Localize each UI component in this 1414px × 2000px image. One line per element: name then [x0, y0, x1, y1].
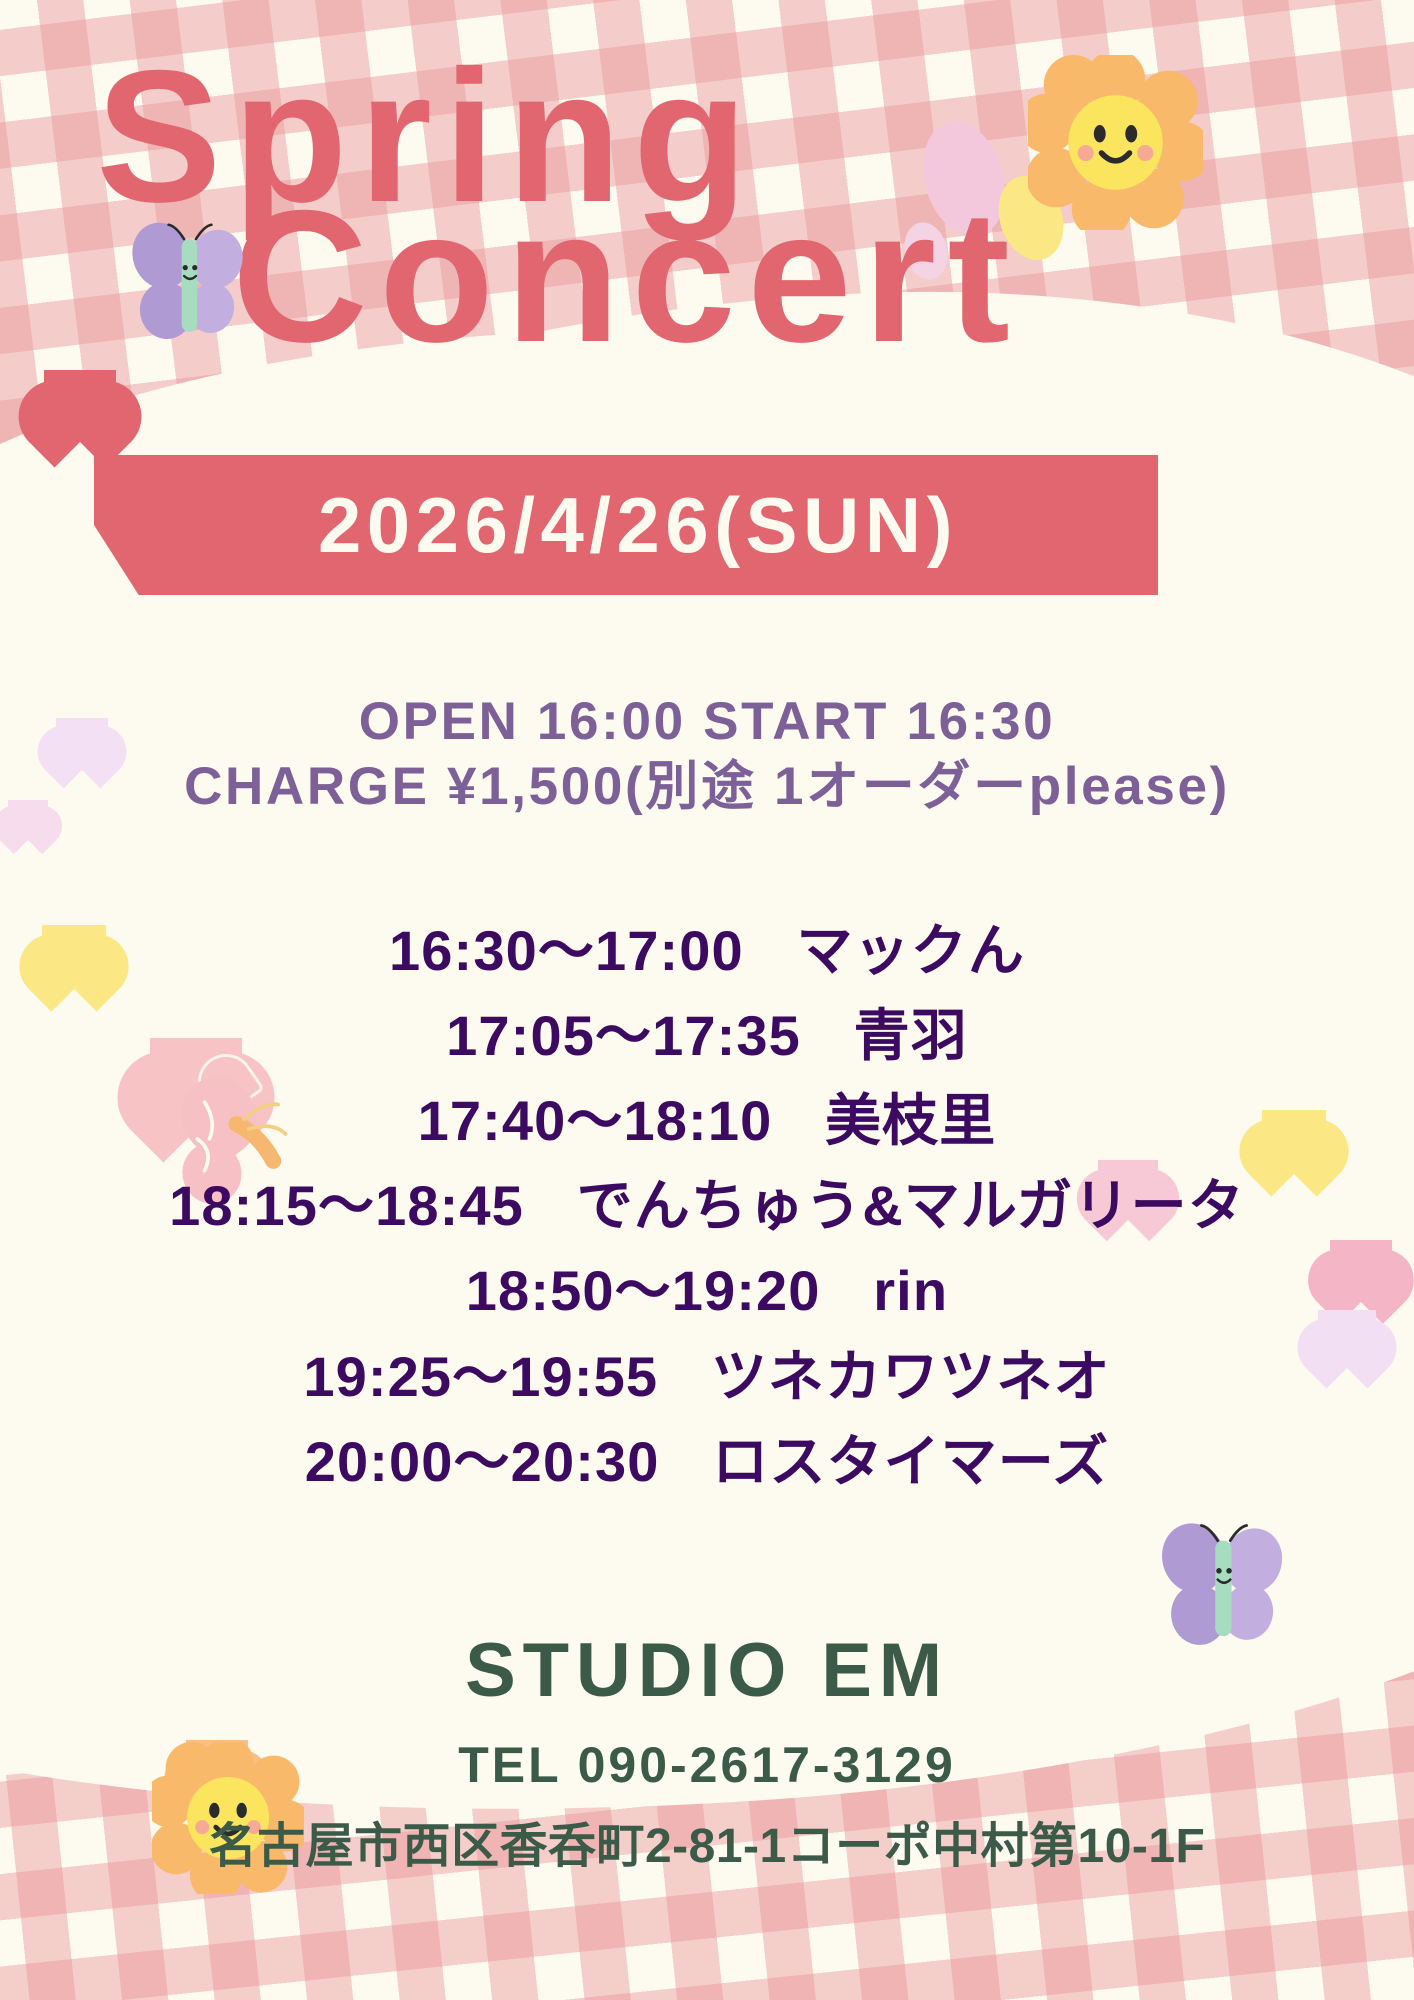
- smiling-flower-icon: [1028, 55, 1203, 230]
- timetable-act: ロスタイマーズ: [712, 1430, 1109, 1493]
- charge-line: CHARGE ¥1,500(別途 1オーダーplease): [0, 755, 1414, 820]
- timetable-act: rin: [873, 1259, 948, 1322]
- timetable-time: 19:25〜19:55: [303, 1345, 658, 1408]
- timetable-act: でんちゅう&マルガリータ: [577, 1174, 1245, 1237]
- timetable-act: マックん: [796, 919, 1024, 982]
- timetable-act: 美枝里: [825, 1089, 996, 1152]
- title-line-concert: Concert: [232, 182, 1021, 370]
- butterfly-icon: [130, 220, 250, 345]
- date-banner-text: 2026/4/26(SUN): [294, 480, 958, 571]
- timetable-row: 18:15〜18:45 でんちゅう&マルガリータ: [0, 1163, 1414, 1248]
- venue-info: STUDIO EM TEL 090-2617-3129 名古屋市西区香呑町2-8…: [0, 1627, 1414, 1876]
- timetable-time: 17:40〜18:10: [418, 1089, 773, 1152]
- timetable-time: 16:30〜17:00: [389, 919, 744, 982]
- venue-address: 名古屋市西区香呑町2-81-1コーポ中村第10-1F: [0, 1806, 1414, 1876]
- timetable-row: 18:50〜19:20 rin: [0, 1248, 1414, 1333]
- timetable-act: 青羽: [854, 1004, 968, 1067]
- poster-canvas: Spring Concert: [0, 0, 1414, 2000]
- date-banner: 2026/4/26(SUN): [94, 455, 1158, 595]
- timetable-row: 19:25〜19:55 ツネカワツネオ: [0, 1334, 1414, 1419]
- timetable-row: 17:40〜18:10 美枝里: [0, 1078, 1414, 1163]
- heart-icon: [44, 370, 116, 442]
- timetable-time: 17:05〜17:35: [446, 1004, 801, 1067]
- timetable-row: 16:30〜17:00 マックん: [0, 908, 1414, 993]
- venue-name: STUDIO EM: [0, 1627, 1414, 1714]
- open-start-line: OPEN 16:00 START 16:30: [0, 690, 1414, 755]
- timetable-time: 20:00〜20:30: [305, 1430, 660, 1493]
- timetable-act: ツネカワツネオ: [711, 1345, 1111, 1408]
- event-info: OPEN 16:00 START 16:30 CHARGE ¥1,500(別途 …: [0, 690, 1414, 819]
- timetable-time: 18:15〜18:45: [169, 1174, 524, 1237]
- timetable-time: 18:50〜19:20: [466, 1259, 821, 1322]
- timetable-row: 17:05〜17:35 青羽: [0, 993, 1414, 1078]
- timetable-row: 20:00〜20:30 ロスタイマーズ: [0, 1419, 1414, 1504]
- venue-tel: TEL 090-2617-3129: [0, 1736, 1414, 1794]
- timetable: 16:30〜17:00 マックん 17:05〜17:35 青羽 17:40〜18…: [0, 908, 1414, 1504]
